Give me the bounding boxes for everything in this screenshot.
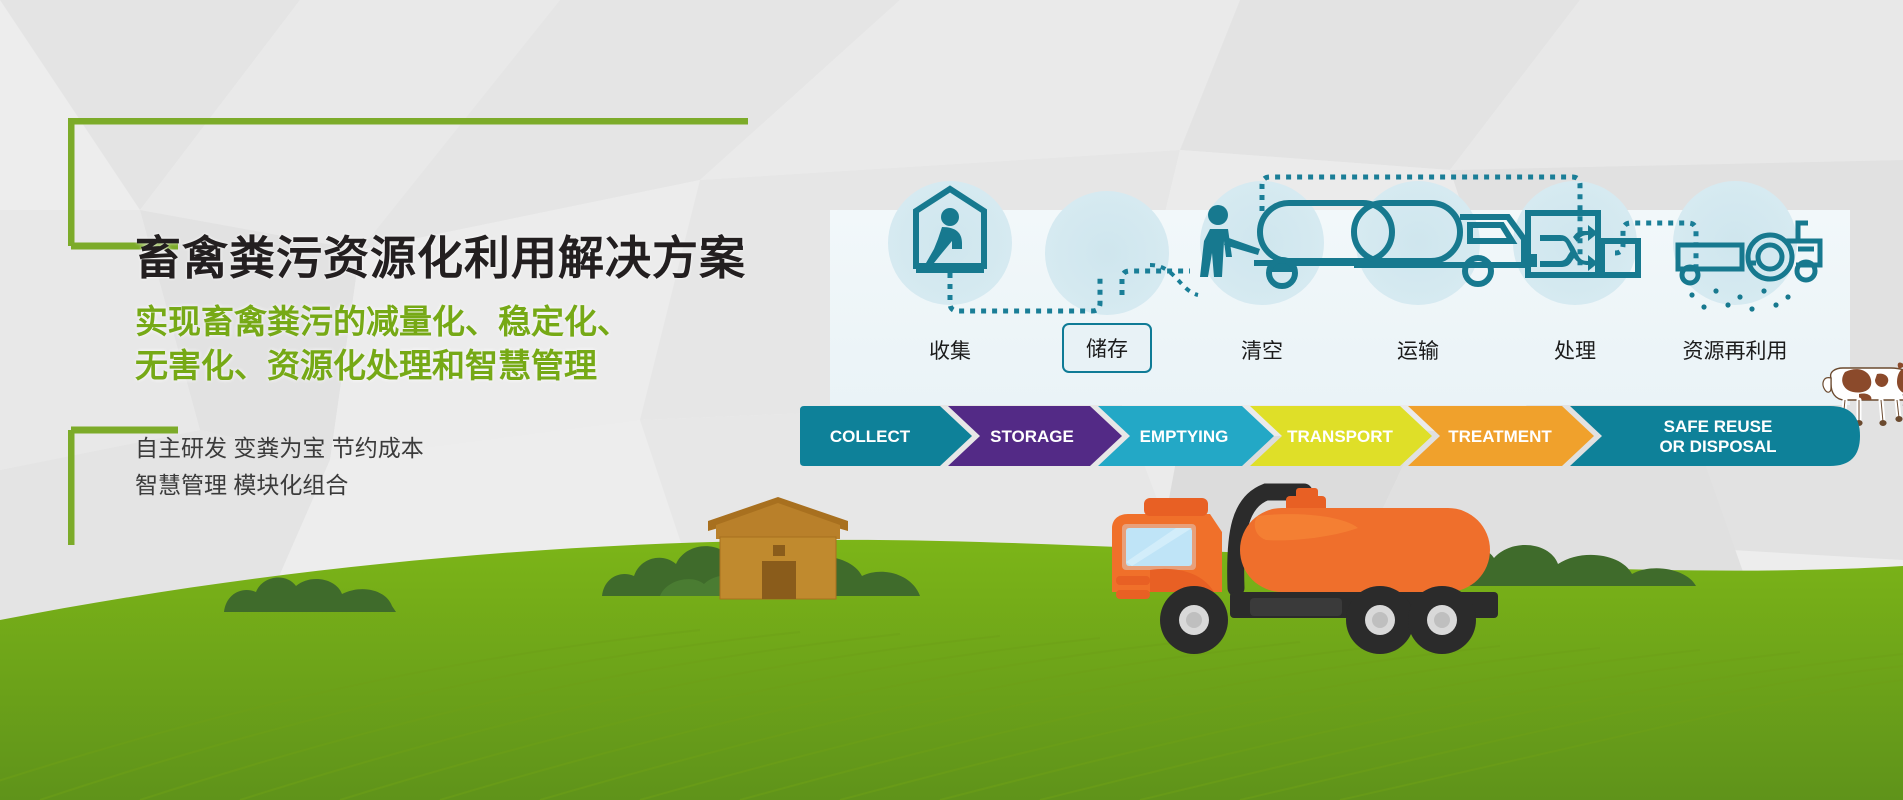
chevron-label-emptying: EMPTYING bbox=[1140, 427, 1229, 446]
tagline-line-2: 智慧管理 模块化组合 bbox=[135, 467, 424, 504]
chevron-storage[interactable]: STORAGE bbox=[948, 406, 1122, 466]
bush-cluster-left bbox=[220, 560, 480, 615]
chevron-label-storage: STORAGE bbox=[990, 427, 1074, 446]
tagline-line-1: 自主研发 变粪为宝 节约成本 bbox=[135, 430, 424, 467]
chevron-label-safe-reuse-line2: OR DISPOSAL bbox=[1659, 437, 1776, 456]
chevron-transport[interactable]: TRANSPORT bbox=[1250, 406, 1432, 466]
hero-text-block: 畜禽粪污资源化利用解决方案 实现畜禽粪污的减量化、稳定化、 无害化、资源化处理和… bbox=[0, 0, 760, 560]
chevron-process-strip: COLLECT STORAGE EMPTYING TRANSPORT TREAT… bbox=[800, 406, 1860, 466]
chevron-emptying[interactable]: EMPTYING bbox=[1098, 406, 1274, 466]
stage-label-collect: 收集 bbox=[929, 335, 971, 365]
stage-label-row: 收集 储存 清空 运输 处理 资源再利用 bbox=[830, 145, 1850, 405]
chevron-collect[interactable]: COLLECT bbox=[800, 406, 972, 466]
chevron-label-transport: TRANSPORT bbox=[1287, 427, 1393, 446]
page-subtitle: 实现畜禽粪污的减量化、稳定化、 无害化、资源化处理和智慧管理 bbox=[135, 300, 630, 387]
subtitle-line-1: 实现畜禽粪污的减量化、稳定化、 bbox=[135, 300, 630, 344]
page-title: 畜禽粪污资源化利用解决方案 bbox=[135, 222, 746, 288]
stage-label-treatment: 处理 bbox=[1554, 335, 1596, 365]
stage-label-emptying: 清空 bbox=[1241, 335, 1283, 365]
chevron-label-treatment: TREATMENT bbox=[1448, 427, 1552, 446]
process-flow-panel: 收集 储存 清空 运输 处理 资源再利用 bbox=[830, 145, 1850, 405]
chevron-label-collect: COLLECT bbox=[830, 427, 911, 446]
stage-label-reuse: 资源再利用 bbox=[1683, 335, 1788, 365]
tagline: 自主研发 变粪为宝 节约成本 智慧管理 模块化组合 bbox=[135, 430, 424, 505]
stage-label-transport: 运输 bbox=[1397, 335, 1439, 365]
banner-root: 畜禽粪污资源化利用解决方案 实现畜禽粪污的减量化、稳定化、 无害化、资源化处理和… bbox=[0, 0, 1903, 800]
chevron-treatment[interactable]: TREATMENT bbox=[1408, 406, 1594, 466]
chevron-safe-reuse[interactable]: SAFE REUSE OR DISPOSAL bbox=[1570, 406, 1860, 466]
vacuum-tanker-truck-illustration bbox=[1090, 470, 1510, 660]
stage-label-storage: 储存 bbox=[1062, 323, 1152, 373]
chevron-label-safe-reuse-line1: SAFE REUSE bbox=[1664, 417, 1773, 436]
subtitle-line-2: 无害化、资源化处理和智慧管理 bbox=[135, 344, 630, 388]
